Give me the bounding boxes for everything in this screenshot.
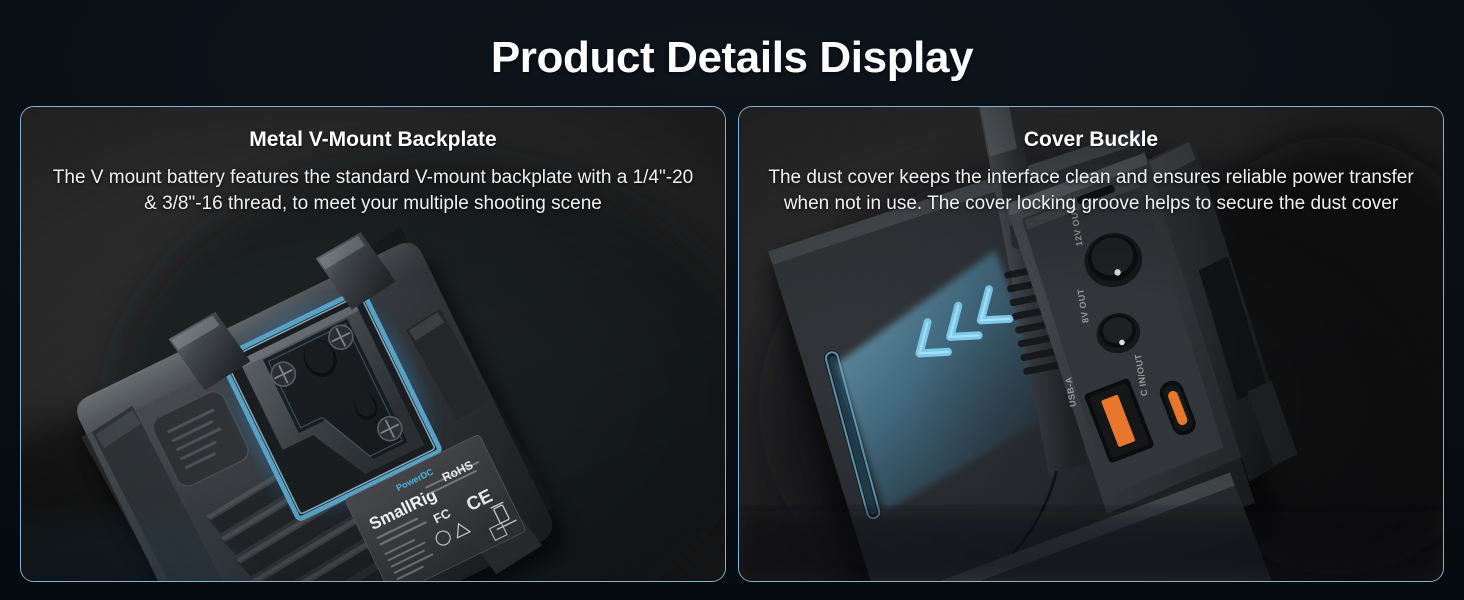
panel-metal-v-mount-backplate[interactable]: Metal V-Mount Backplate The V mount batt… [20,106,726,582]
panel-description-right: The dust cover keeps the interface clean… [763,165,1419,217]
panel-description-left: The V mount battery features the standar… [45,165,701,217]
page-title: Product Details Display [0,0,1464,80]
product-details-page: Product Details Display Metal V-Mount Ba… [0,0,1464,600]
panel-header-right: Cover Buckle The dust cover keeps the in… [739,107,1443,218]
panel-cover-buckle[interactable]: Cover Buckle The dust cover keeps the in… [738,106,1444,582]
panel-header-left: Metal V-Mount Backplate The V mount batt… [21,107,725,218]
panel-row: Metal V-Mount Backplate The V mount batt… [20,106,1444,582]
panel-title-left: Metal V-Mount Backplate [45,127,701,152]
panel-title-right: Cover Buckle [763,127,1419,152]
